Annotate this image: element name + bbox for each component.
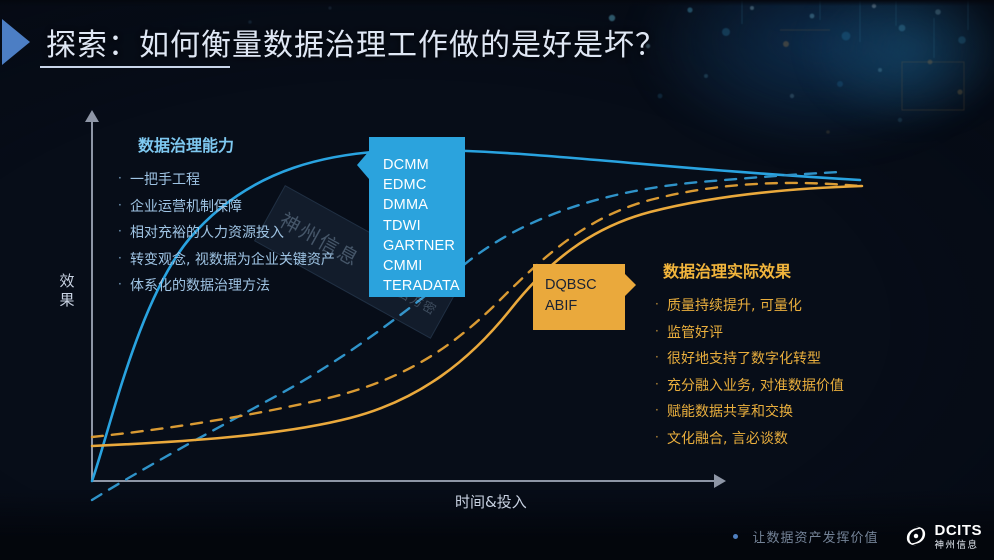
bullet-icon: ·: [655, 292, 667, 317]
list-item: ·转变观念, 视数据为企业关键资产: [118, 246, 335, 273]
capability-text-block: 数据治理能力 ·一把手工程 ·企业运营机制保障 ·相对充裕的人力资源投入 ·转变…: [118, 132, 335, 299]
list-item: ABIF: [545, 296, 625, 317]
list-item: DQBSC: [545, 275, 625, 296]
logo-cn-label: 神州信息: [935, 541, 983, 551]
list-item: DCMM: [383, 155, 465, 175]
list-item: ·一把手工程: [118, 166, 335, 193]
bullet-icon: ·: [118, 166, 130, 191]
standards-callout-box: DCMM EDMC DMMA TDWI GARTNER CMMI TERADAT…: [369, 137, 465, 297]
list-item-label: 一把手工程: [130, 172, 200, 188]
list-item-label: 相对充裕的人力资源投入: [130, 225, 284, 241]
list-item: ·很好地支持了数字化转型: [655, 345, 844, 372]
bullet-icon: ·: [655, 345, 667, 370]
bullet-icon: ·: [118, 272, 130, 297]
bullet-icon: ·: [655, 372, 667, 397]
list-item-label: 赋能数据共享和交换: [667, 404, 793, 420]
list-item: CMMI: [383, 256, 465, 276]
bullet-icon: ·: [655, 425, 667, 450]
standards-list: DCMM EDMC DMMA TDWI GARTNER CMMI TERADAT…: [369, 137, 465, 296]
list-item: ·文化融合, 言必谈数: [655, 425, 844, 452]
list-item: ·质量持续提升, 可量化: [655, 292, 844, 319]
swirl-logo-icon: [903, 523, 929, 549]
slide-footer: 让数据资产发挥价值 DCITS 神州信息: [733, 523, 982, 551]
footer-tagline: 让数据资产发挥价值: [752, 527, 878, 546]
list-item: ·赋能数据共享和交换: [655, 398, 844, 425]
bullet-icon: ·: [655, 319, 667, 344]
effect-list: ·质量持续提升, 可量化 ·监管好评 ·很好地支持了数字化转型 ·充分融入业务,…: [655, 292, 844, 452]
slide-canvas: 探索：如何衡量数据治理工作做的是好是坏？ 效果 时间&投入 神州信息 官方密 数…: [0, 0, 994, 560]
capability-heading: 数据治理能力: [138, 132, 335, 156]
list-item-label: 体系化的数据治理方法: [130, 278, 270, 294]
list-item: ·充分融入业务, 对准数据价值: [655, 372, 844, 399]
list-item-label: 质量持续提升, 可量化: [667, 298, 802, 314]
metrics-list: DQBSC ABIF: [533, 264, 625, 317]
list-item: TDWI: [383, 216, 465, 236]
list-item: ·企业运营机制保障: [118, 193, 335, 220]
effect-heading: 数据治理实际效果: [663, 258, 844, 282]
logo-text: DCITS 神州信息: [935, 523, 983, 551]
list-item-label: 文化融合, 言必谈数: [667, 431, 788, 447]
effect-text-block: 数据治理实际效果 ·质量持续提升, 可量化 ·监管好评 ·很好地支持了数字化转型…: [655, 258, 844, 452]
bullet-icon: ·: [118, 246, 130, 271]
list-item: GARTNER: [383, 236, 465, 256]
list-item-label: 充分融入业务, 对准数据价值: [667, 378, 844, 394]
footer-dot-icon: [733, 534, 738, 539]
list-item-label: 企业运营机制保障: [130, 199, 242, 215]
list-item-label: 很好地支持了数字化转型: [667, 351, 821, 367]
logo-en-label: DCITS: [935, 523, 983, 538]
bullet-icon: ·: [118, 193, 130, 218]
list-item-label: 转变观念, 视数据为企业关键资产: [130, 252, 335, 268]
list-item-label: 监管好评: [667, 325, 723, 341]
list-item: ·相对充裕的人力资源投入: [118, 219, 335, 246]
list-item: ·体系化的数据治理方法: [118, 272, 335, 299]
list-item: ·监管好评: [655, 319, 844, 346]
list-item: DMMA: [383, 195, 465, 215]
bullet-icon: ·: [118, 219, 130, 244]
company-logo: DCITS 神州信息: [903, 523, 983, 551]
bullet-icon: ·: [655, 398, 667, 423]
list-item: TERADATA: [383, 276, 465, 296]
metrics-callout-box: DQBSC ABIF: [533, 264, 625, 330]
capability-list: ·一把手工程 ·企业运营机制保障 ·相对充裕的人力资源投入 ·转变观念, 视数据…: [118, 166, 335, 299]
list-item: EDMC: [383, 175, 465, 195]
